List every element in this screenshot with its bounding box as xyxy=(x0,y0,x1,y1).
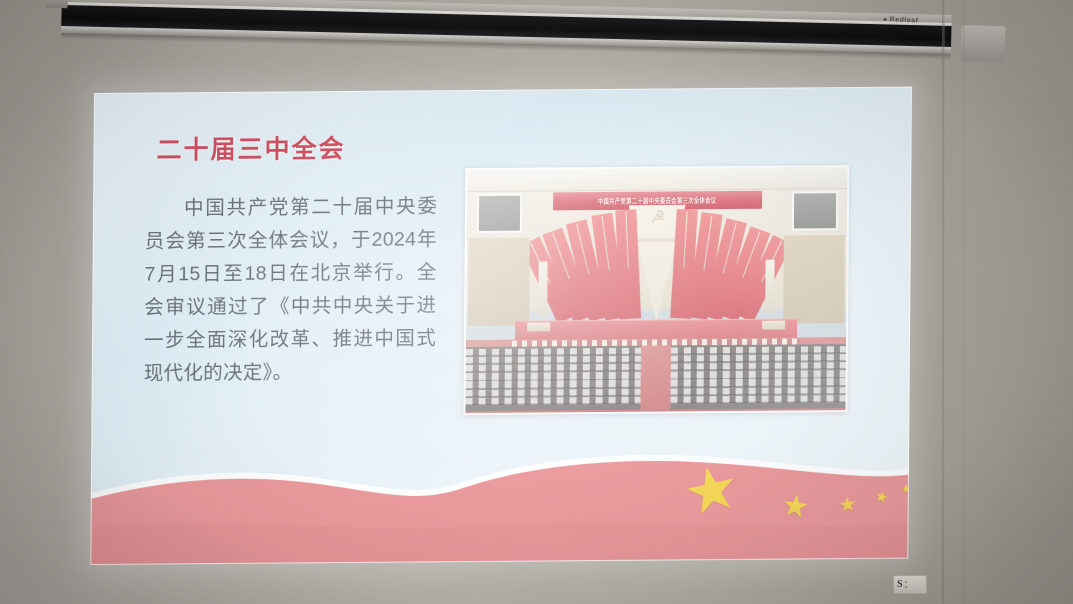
seat-row xyxy=(671,370,846,379)
flag-pole xyxy=(552,233,569,279)
flag-pole xyxy=(576,224,589,275)
seat-row xyxy=(466,364,641,373)
seat-row xyxy=(466,347,641,356)
hall-center-aisle xyxy=(640,346,671,409)
red-flag xyxy=(616,210,642,320)
hall-side-panel-right xyxy=(792,191,838,230)
seat-row xyxy=(466,380,641,389)
seat-row xyxy=(466,397,641,406)
brand-bullet-icon xyxy=(884,18,887,21)
wall-plate-sticker: S u u xyxy=(893,575,927,594)
seat-row xyxy=(466,356,641,365)
seat-row xyxy=(466,388,641,397)
hall-banner-text: 中国共产党第二十届中央委员会第三次全体会议 xyxy=(598,195,717,206)
hall-door-right xyxy=(766,260,775,314)
wall-plate-mini-line-2: u xyxy=(905,585,907,589)
plenary-session-photo: 中国共产党第二十届中央委员会第三次全体会议 ☭ xyxy=(463,165,849,415)
slide-footer-wave xyxy=(90,435,909,565)
hall-stage xyxy=(515,318,796,340)
wall-plate-logo-icon: S xyxy=(897,579,903,590)
red-flag-fan xyxy=(557,209,755,320)
classroom-wall-scene: Redleaf 二十届三中全会 中国共产党第二十届中央委员会第三次全体会议，于2… xyxy=(0,0,1073,604)
wall-plate-mini-text: u u xyxy=(905,580,907,589)
seat-row xyxy=(671,362,846,371)
projector-screen-roller: Redleaf xyxy=(61,0,952,59)
hall-side-curtain-left xyxy=(468,238,529,326)
slide-title: 二十届三中全会 xyxy=(156,129,345,166)
hall-seating-left xyxy=(465,346,640,411)
hall-side-panel-left xyxy=(476,194,522,233)
seat-row xyxy=(671,354,846,363)
seat-row xyxy=(671,346,846,355)
seat-row xyxy=(671,395,846,404)
slide-body-paragraph: 中国共产党第二十届中央委员会第三次全体会议，于2024年7月15日至18日在北京… xyxy=(144,190,438,390)
wall-seam-line xyxy=(942,0,945,604)
brand-text: Redleaf xyxy=(889,16,918,24)
presentation-slide: 二十届三中全会 中国共产党第二十届中央委员会第三次全体会议，于2024年7月15… xyxy=(90,87,912,565)
flag-pole xyxy=(683,212,688,269)
wave-shape xyxy=(90,435,909,565)
projected-slide-area: 二十届三中全会 中国共产党第二十届中央委员会第三次全体会议，于2024年7月15… xyxy=(90,87,912,565)
hall-ceiling xyxy=(467,167,847,192)
seat-row xyxy=(671,387,846,396)
hall-seating-right xyxy=(671,344,846,409)
flag-pole xyxy=(703,216,712,271)
hall-side-curtain-right xyxy=(783,235,844,323)
stage-plant-right xyxy=(762,321,785,330)
hall-door-left xyxy=(538,262,547,316)
flag-pole xyxy=(601,217,609,272)
flag-pole xyxy=(626,212,630,269)
stage-plant-left xyxy=(527,323,550,332)
roller-end-cap-right xyxy=(961,25,1006,62)
seat-row xyxy=(466,372,641,381)
seat-row xyxy=(671,379,846,388)
roller-end-cap-left xyxy=(46,0,69,8)
wall-seam-line-2 xyxy=(963,0,965,604)
